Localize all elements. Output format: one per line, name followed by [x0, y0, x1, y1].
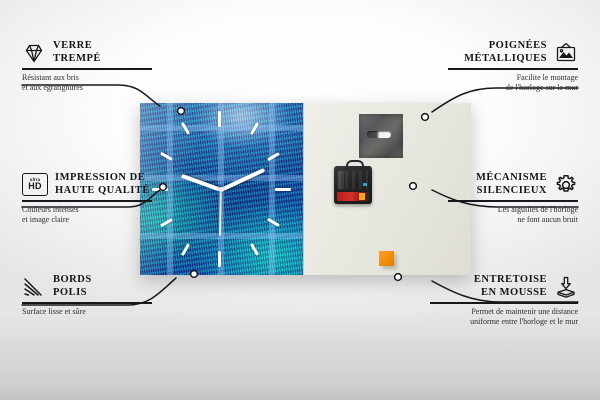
clock-pivot — [219, 187, 224, 192]
callout-mecanisme-silencieux[interactable]: MÉCANISME SILENCIEUX Les aiguilles de l'… — [448, 172, 578, 226]
callout-rule — [22, 200, 152, 202]
product-image — [140, 103, 470, 275]
callout-subtitle: Couleurs intenses et image claire — [22, 205, 152, 226]
callout-rule — [448, 68, 578, 70]
grid-line — [140, 125, 303, 131]
callout-entretoise-en-mousse[interactable]: ENTRETOISE EN MOUSSE Permet de maintenir… — [430, 274, 578, 328]
callout-header: MÉCANISME SILENCIEUX — [448, 172, 578, 197]
infographic-canvas: VERRE TREMPÉ Résistant aux bris et aux é… — [0, 0, 600, 400]
mechanism-detail — [338, 171, 368, 189]
mechanism-led — [363, 183, 367, 186]
callout-title: VERRE TREMPÉ — [53, 40, 101, 65]
framed-picture-hook-icon — [554, 41, 578, 65]
metal-hanger-plate — [359, 114, 403, 158]
callout-rule — [22, 68, 152, 70]
callout-impression-haute-qualite[interactable]: ultra HD IMPRESSION DE HAUTE QUALITÉ Cou… — [22, 172, 152, 226]
mechanism-hook — [346, 160, 364, 171]
ultra-hd-badge-icon: ultra HD — [22, 173, 48, 196]
callout-subtitle: Surface lisse et sûre — [22, 307, 152, 318]
clock-tick — [275, 188, 291, 191]
clock-back-panel — [303, 103, 471, 275]
clock-tick — [218, 251, 221, 267]
battery — [337, 192, 369, 201]
hanger-keyhole-slot — [367, 131, 391, 138]
gear-icon — [554, 173, 578, 197]
callout-subtitle: Facilite le montage de l'horloge sur le … — [448, 73, 578, 94]
callout-header: POIGNÉES MÉTALLIQUES — [448, 40, 578, 65]
callout-header: ENTRETOISE EN MOUSSE — [430, 274, 578, 299]
foam-spacer — [379, 251, 394, 266]
quartz-mechanism — [334, 166, 372, 204]
arrow-down-pad-icon — [554, 275, 578, 299]
grid-line — [140, 233, 303, 239]
diamond-icon — [22, 41, 46, 65]
callout-bords-polis[interactable]: BORDS POLIS Surface lisse et sûre — [22, 274, 152, 317]
clock-tick — [152, 188, 168, 191]
clock-face — [140, 103, 303, 275]
clock-tick — [218, 111, 221, 127]
callout-header: BORDS POLIS — [22, 274, 152, 299]
callout-poignees-metalliques[interactable]: POIGNÉES MÉTALLIQUES Facilite le montage… — [448, 40, 578, 94]
callout-title: BORDS POLIS — [53, 274, 92, 299]
callout-subtitle: Permet de maintenir une distance uniform… — [430, 307, 578, 328]
callout-rule — [430, 302, 578, 304]
diagonal-lines-icon — [22, 275, 46, 299]
callout-header: VERRE TREMPÉ — [22, 40, 152, 65]
callout-title: ENTRETOISE EN MOUSSE — [474, 274, 547, 299]
grid-line — [140, 175, 303, 181]
callout-title: POIGNÉES MÉTALLIQUES — [464, 40, 547, 65]
callout-subtitle: Résistant aux bris et aux égratignures — [22, 73, 152, 94]
callout-title: IMPRESSION DE HAUTE QUALITÉ — [55, 172, 150, 197]
callout-verre-trempe[interactable]: VERRE TREMPÉ Résistant aux bris et aux é… — [22, 40, 152, 94]
callout-header: ultra HD IMPRESSION DE HAUTE QUALITÉ — [22, 172, 152, 197]
callout-rule — [22, 302, 152, 304]
callout-title: MÉCANISME SILENCIEUX — [476, 172, 547, 197]
callout-rule — [448, 200, 578, 202]
callout-subtitle: Les aiguilles de l'horloge ne font aucun… — [448, 205, 578, 226]
